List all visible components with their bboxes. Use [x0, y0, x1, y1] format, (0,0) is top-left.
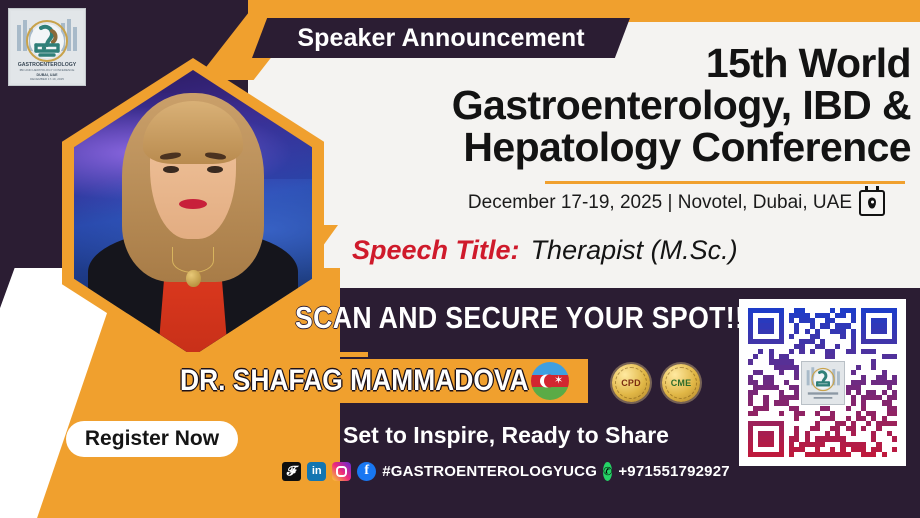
speaker-name: DR. SHAFAG MAMMADOVA: [180, 364, 529, 398]
scan-headline: SCAN AND SECURE YOUR SPOT!!: [295, 300, 665, 336]
register-now-button[interactable]: Register Now: [66, 421, 238, 457]
cpd-seal-label: CPD: [621, 378, 641, 388]
tagline: Set to Inspire, Ready to Share: [288, 422, 724, 449]
speaker-name-bar: DR. SHAFAG MAMMADOVA: [168, 359, 588, 403]
svg-text:IBD AND HEPATOLOGY CONFERENCE: IBD AND HEPATOLOGY CONFERENCE: [20, 68, 75, 72]
facebook-icon[interactable]: f: [357, 462, 376, 481]
title-line-3: Hepatology Conference: [345, 126, 911, 168]
name-bar-accent: [168, 352, 368, 357]
cme-seal-label: CME: [671, 378, 692, 388]
instagram-icon[interactable]: [332, 462, 351, 481]
social-handle: #GASTROENTEROLOGYUCG: [382, 463, 597, 480]
x-icon[interactable]: 𝓕: [282, 462, 301, 481]
linkedin-icon[interactable]: in: [307, 462, 326, 481]
social-media-row: 𝓕 in f #GASTROENTEROLOGYUCG ✆ +971551792…: [288, 459, 724, 483]
register-now-label: Register Now: [85, 427, 219, 451]
cme-seal: CME: [662, 364, 700, 402]
speech-title-row: Speech Title: Therapist (M.Sc.): [352, 228, 912, 272]
title-line-1: 15th World: [345, 42, 911, 84]
title-line-2: Gastroenterology, IBD &: [345, 84, 911, 126]
conference-title: 15th World Gastroenterology, IBD & Hepat…: [345, 42, 911, 168]
speaker-portrait: [74, 70, 312, 356]
calendar-location-icon: [859, 190, 885, 216]
azerbaijan-flag-icon: ✶: [531, 362, 569, 400]
conference-logo: GASTROENTEROLOGY IBD AND HEPATOLOGY CONF…: [8, 8, 86, 86]
qr-center-logo: [801, 361, 845, 405]
speech-title-label: Speech Title:: [352, 235, 520, 266]
event-date-venue-text: December 17-19, 2025 | Novotel, Dubai, U…: [468, 192, 852, 214]
registration-qr-code[interactable]: [739, 299, 906, 466]
whatsapp-icon[interactable]: ✆: [603, 462, 612, 481]
cpd-seal: CPD: [612, 364, 650, 402]
event-date-venue: December 17-19, 2025 | Novotel, Dubai, U…: [345, 190, 885, 216]
speaker-announcement-poster: GASTROENTEROLOGY IBD AND HEPATOLOGY CONF…: [0, 0, 920, 518]
svg-text:DECEMBER 17-19, 2025: DECEMBER 17-19, 2025: [30, 77, 64, 81]
title-underline: [545, 181, 905, 184]
speech-title-value: Therapist (M.Sc.): [531, 235, 738, 266]
contact-phone: +971551792927: [618, 463, 729, 480]
